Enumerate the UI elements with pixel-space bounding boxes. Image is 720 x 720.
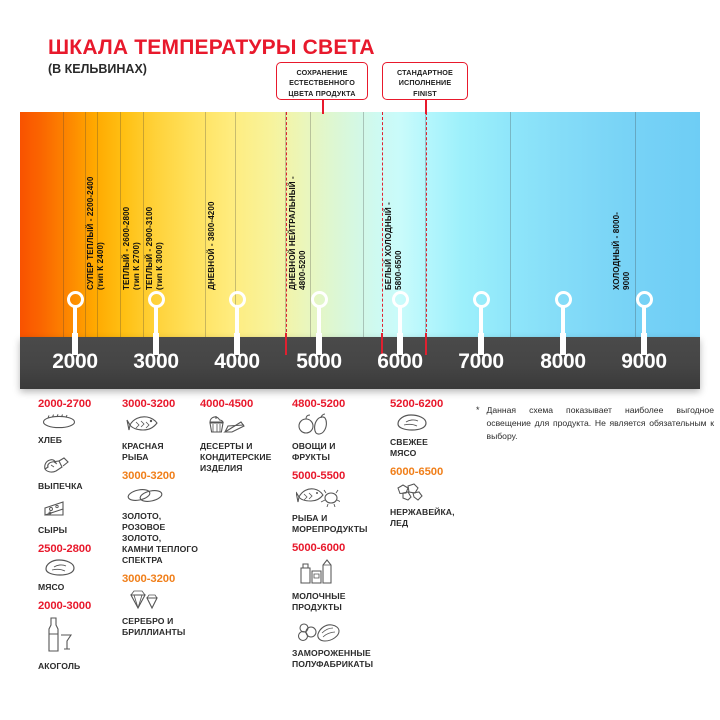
dashed-divider	[286, 112, 287, 337]
legend-item-label: ЗОЛОТО, РОЗОВОЕ ЗОЛОТО, КАМНИ ТЕПЛОГО СП…	[122, 511, 204, 566]
band-divider	[510, 112, 511, 337]
footnote-asterisk: *	[476, 404, 480, 443]
temperature-range-label: 5200-6200	[390, 398, 472, 410]
legend-item: ЗАМОРОЖЕННЫЕ ПОЛУФАБРИКАТЫ	[292, 620, 387, 670]
legend-column-3: 4000-4500ДЕСЕРТЫ И КОНДИТЕРСКИЕ ИЗДЕЛИЯ	[200, 398, 288, 481]
scale-pin-6	[473, 291, 490, 308]
pin-stem	[317, 305, 320, 355]
seafood-icon	[296, 485, 387, 512]
legend-group: 2000-3000АКОГОЛЬ	[38, 600, 116, 672]
legend-item-label: СЕРЕБРО И БРИЛЛИАНТЫ	[122, 616, 204, 638]
dairy-icon	[296, 557, 387, 590]
legend-item: ДЕСЕРТЫ И КОНДИТЕРСКИЕ ИЗДЕЛИЯ	[200, 413, 288, 474]
legend-item-label: СВЕЖЕЕ МЯСО	[390, 437, 472, 459]
scale-label-6: БЕЛЫЙ ХОЛОДНЫЙ - 5800-6500	[384, 202, 403, 290]
temperature-range-label: 3000-3200	[122, 470, 204, 482]
band-divider	[120, 112, 121, 337]
callout-box-1: СОХРАНЕНИЕ ЕСТЕСТВЕННОГО ЦВЕТА ПРОДУКТА	[276, 62, 368, 100]
alcohol-icon	[42, 615, 116, 660]
pin-stem	[561, 305, 564, 355]
legend-column-5: 5200-6200СВЕЖЕЕ МЯСО6000-6500НЕРЖАВЕЙКА,…	[390, 398, 472, 536]
legend-group: 3000-3200КРАСНАЯ РЫБА	[122, 398, 204, 463]
scale-tick-marker-red	[285, 333, 287, 355]
legend-item: СВЕЖЕЕ МЯСО	[390, 413, 472, 459]
temperature-range-label: 4800-5200	[292, 398, 387, 410]
legend-item: РЫБА И МОРЕПРОДУКТЫ	[292, 485, 387, 535]
bread-icon	[42, 413, 116, 434]
temperature-range-label: 5000-5500	[292, 470, 387, 482]
temperature-range-label: 2000-3000	[38, 600, 116, 612]
temperature-range-label: 4000-4500	[200, 398, 288, 410]
legend-item: ЗОЛОТО, РОЗОВОЕ ЗОЛОТО, КАМНИ ТЕПЛОГО СП…	[122, 485, 204, 566]
legend-item-label: СЫРЫ	[38, 525, 116, 536]
legend-item: МЯСО	[38, 558, 116, 593]
legend-item: КРАСНАЯ РЫБА	[122, 413, 204, 463]
scale-pin-1	[67, 291, 84, 308]
temperature-range-label: 5000-6000	[292, 542, 387, 554]
page-subtitle: (В КЕЛЬВИНАХ)	[48, 62, 147, 76]
legend-group: 3000-3200СЕРЕБРО И БРИЛЛИАНТЫ	[122, 573, 204, 638]
scale-label-5: ДНЕВНОЙ НЕЙТРАЛЬНЫЙ - 4800-5200	[288, 176, 307, 290]
legend-item: ВЫПЕЧКА	[38, 453, 116, 492]
pastry-icon	[42, 453, 116, 480]
temperature-range-label: 2500-2800	[38, 543, 116, 555]
band-divider	[205, 112, 206, 337]
gold-rings-icon	[126, 485, 204, 510]
legend-item-label: ХЛЕБ	[38, 435, 116, 446]
legend-item: МОЛОЧНЫЕ ПРОДУКТЫ	[292, 557, 387, 613]
temperature-range-label: 3000-3200	[122, 398, 204, 410]
temperature-range-label: 3000-3200	[122, 573, 204, 585]
scale-pin-4	[311, 291, 328, 308]
legend-item: СЕРЕБРО И БРИЛЛИАНТЫ	[122, 588, 204, 638]
temperature-range-label: 2000-2700	[38, 398, 116, 410]
footnote: * Данная схема показывает наиболее выгод…	[476, 404, 714, 443]
legend-group: 2500-2800МЯСО	[38, 543, 116, 593]
scale-label-2: ТЕПЛЫЙ - 2600-2800 (тип К 2700)	[122, 207, 141, 290]
legend-item-label: ДЕСЕРТЫ И КОНДИТЕРСКИЕ ИЗДЕЛИЯ	[200, 441, 288, 474]
callout-stem	[425, 100, 427, 114]
legend-column-2: 3000-3200КРАСНАЯ РЫБА3000-3200ЗОЛОТО, РО…	[122, 398, 204, 645]
scale-pin-7	[555, 291, 572, 308]
callout-box-2: СТАНДАРТНОЕ ИСПОЛНЕНИЕ FINIST	[382, 62, 468, 100]
steel-ice-icon	[394, 481, 472, 506]
legend-item: НЕРЖАВЕЙКА, ЛЕД	[390, 481, 472, 529]
scale-label-7: ХОЛОДНЫЙ - 8000-9000	[612, 202, 631, 290]
legend-item: ОВОЩИ И ФРУКТЫ	[292, 413, 387, 463]
legend-item-label: МОЛОЧНЫЕ ПРОДУКТЫ	[292, 591, 387, 613]
legend-item: АКОГОЛЬ	[38, 615, 116, 672]
legend-group: 2000-2700ХЛЕБВЫПЕЧКАСЫРЫ	[38, 398, 116, 536]
temperature-range-label: 6000-6500	[390, 466, 472, 478]
scale-label-1: СУПЕР ТЕПЛЫЙ - 2200-2400 (тип К 2400)	[86, 176, 105, 290]
legend-item-label: НЕРЖАВЕЙКА, ЛЕД	[390, 507, 472, 529]
band-divider	[63, 112, 64, 337]
legend-item-label: АКОГОЛЬ	[38, 661, 116, 672]
infographic-page: ШКАЛА ТЕМПЕРАТУРЫ СВЕТА (В КЕЛЬВИНАХ) СО…	[0, 0, 720, 720]
scale-pin-5	[392, 291, 409, 308]
legend-item-label: РЫБА И МОРЕПРОДУКТЫ	[292, 513, 387, 535]
footnote-text: Данная схема показывает наиболее выгодно…	[487, 404, 714, 443]
legend-group: 5000-6000МОЛОЧНЫЕ ПРОДУКТЫЗАМОРОЖЕННЫЕ П…	[292, 542, 387, 670]
scale-number-bar: 20003000400050006000700080009000	[20, 337, 700, 389]
scale-pin-8	[636, 291, 653, 308]
fresh-meat-icon	[394, 413, 472, 436]
vegetables-icon	[296, 413, 387, 440]
legend-item-label: ВЫПЕЧКА	[38, 481, 116, 492]
page-title: ШКАЛА ТЕМПЕРАТУРЫ СВЕТА	[48, 36, 375, 60]
legend-item-label: ОВОЩИ И ФРУКТЫ	[292, 441, 387, 463]
pin-stem	[479, 305, 482, 355]
legend-column-1: 2000-2700ХЛЕБВЫПЕЧКАСЫРЫ2500-2800МЯСО200…	[38, 398, 116, 679]
redfish-icon	[126, 413, 204, 440]
legend-group: 3000-3200ЗОЛОТО, РОЗОВОЕ ЗОЛОТО, КАМНИ Т…	[122, 470, 204, 566]
pin-stem	[398, 305, 401, 355]
legend-group: 6000-6500НЕРЖАВЕЙКА, ЛЕД	[390, 466, 472, 529]
legend-item: ХЛЕБ	[38, 413, 116, 446]
legend-group: 5000-5500РЫБА И МОРЕПРОДУКТЫ	[292, 470, 387, 535]
scale-label-4: ДНЕВНОЙ - 3800-4200	[207, 201, 217, 290]
scale-pin-3	[229, 291, 246, 308]
scale-label-3: ТЕПЛЫЙ - 2900-3100 (тип К 3000)	[145, 207, 164, 290]
diamond-icon	[126, 588, 204, 615]
dessert-icon	[204, 413, 288, 440]
meat-icon	[42, 558, 116, 581]
pin-stem	[642, 305, 645, 355]
dashed-divider	[426, 112, 427, 337]
pin-stem	[235, 305, 238, 355]
cheese-icon	[42, 499, 116, 524]
callout-stem	[322, 100, 324, 114]
pin-stem	[73, 305, 76, 355]
legend-group: 4000-4500ДЕСЕРТЫ И КОНДИТЕРСКИЕ ИЗДЕЛИЯ	[200, 398, 288, 474]
dashed-divider	[382, 112, 383, 337]
legend-column-4: 4800-5200ОВОЩИ И ФРУКТЫ5000-5500РЫБА И М…	[292, 398, 387, 677]
scale-tick-marker-red	[425, 333, 427, 355]
legend-group: 5200-6200СВЕЖЕЕ МЯСО	[390, 398, 472, 459]
legend-item-label: ЗАМОРОЖЕННЫЕ ПОЛУФАБРИКАТЫ	[292, 648, 387, 670]
frozen-icon	[296, 620, 387, 647]
legend-item-label: МЯСО	[38, 582, 116, 593]
legend-item: СЫРЫ	[38, 499, 116, 536]
scale-pin-2	[148, 291, 165, 308]
pin-stem	[154, 305, 157, 355]
legend-item-label: КРАСНАЯ РЫБА	[122, 441, 204, 463]
band-divider	[363, 112, 364, 337]
band-divider	[143, 112, 144, 337]
legend-group: 4800-5200ОВОЩИ И ФРУКТЫ	[292, 398, 387, 463]
color-temperature-scale: СУПЕР ТЕПЛЫЙ - 2200-2400 (тип К 2400)ТЕП…	[20, 112, 700, 337]
